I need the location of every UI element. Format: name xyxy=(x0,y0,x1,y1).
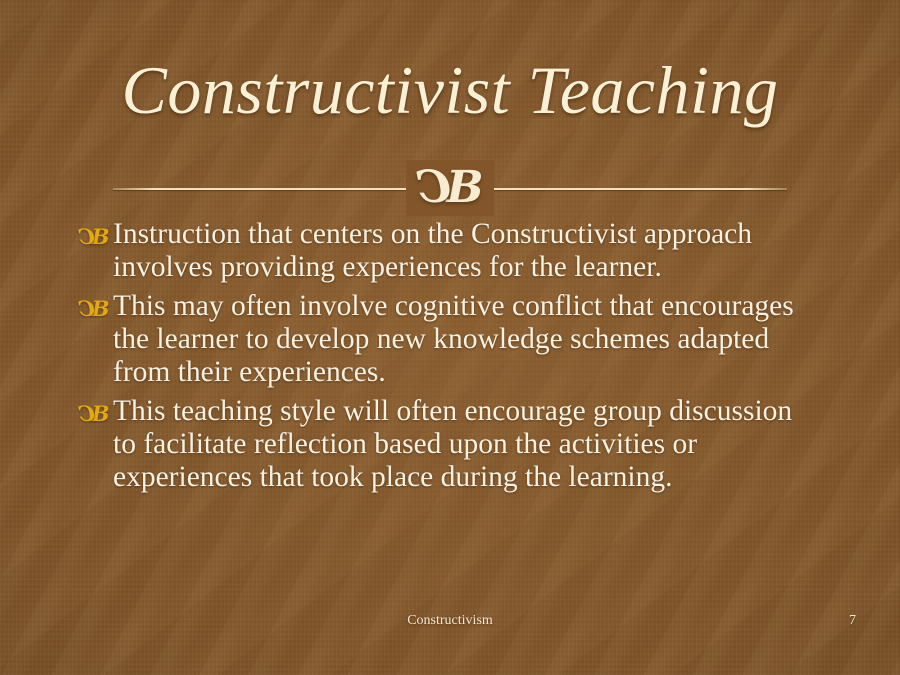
bullet-list: CB Instruction that centers on the Const… xyxy=(78,218,822,500)
list-item: CB This may often involve cognitive conf… xyxy=(78,290,822,389)
cb-bullet-icon: CB xyxy=(78,290,113,328)
slide-title: Constructivist Teaching xyxy=(0,56,900,125)
cb-bullet-icon: CB xyxy=(78,395,113,433)
title-divider: CB xyxy=(0,160,900,216)
cb-bullet-icon: CB xyxy=(78,218,113,256)
list-item-text: This teaching style will often encourage… xyxy=(113,395,822,494)
ornament-b-glyph: B xyxy=(446,160,483,216)
list-item: CB Instruction that centers on the Const… xyxy=(78,218,822,284)
bullet-c-glyph: C xyxy=(78,218,95,256)
bullet-c-glyph: C xyxy=(78,395,95,433)
bullet-c-glyph: C xyxy=(78,290,95,328)
cb-ornament-icon: CB xyxy=(406,160,493,216)
ornament-c-glyph: C xyxy=(416,160,451,216)
footer-page-number: 7 xyxy=(849,613,856,629)
footer-deck-title: Constructivism xyxy=(0,613,900,629)
list-item-text: This may often involve cognitive conflic… xyxy=(113,290,822,389)
divider-ornament: CB xyxy=(0,160,900,216)
list-item: CB This teaching style will often encour… xyxy=(78,395,822,494)
list-item-text: Instruction that centers on the Construc… xyxy=(113,218,822,284)
presentation-slide: Constructivist Teaching CB CB Instructio… xyxy=(0,0,900,675)
